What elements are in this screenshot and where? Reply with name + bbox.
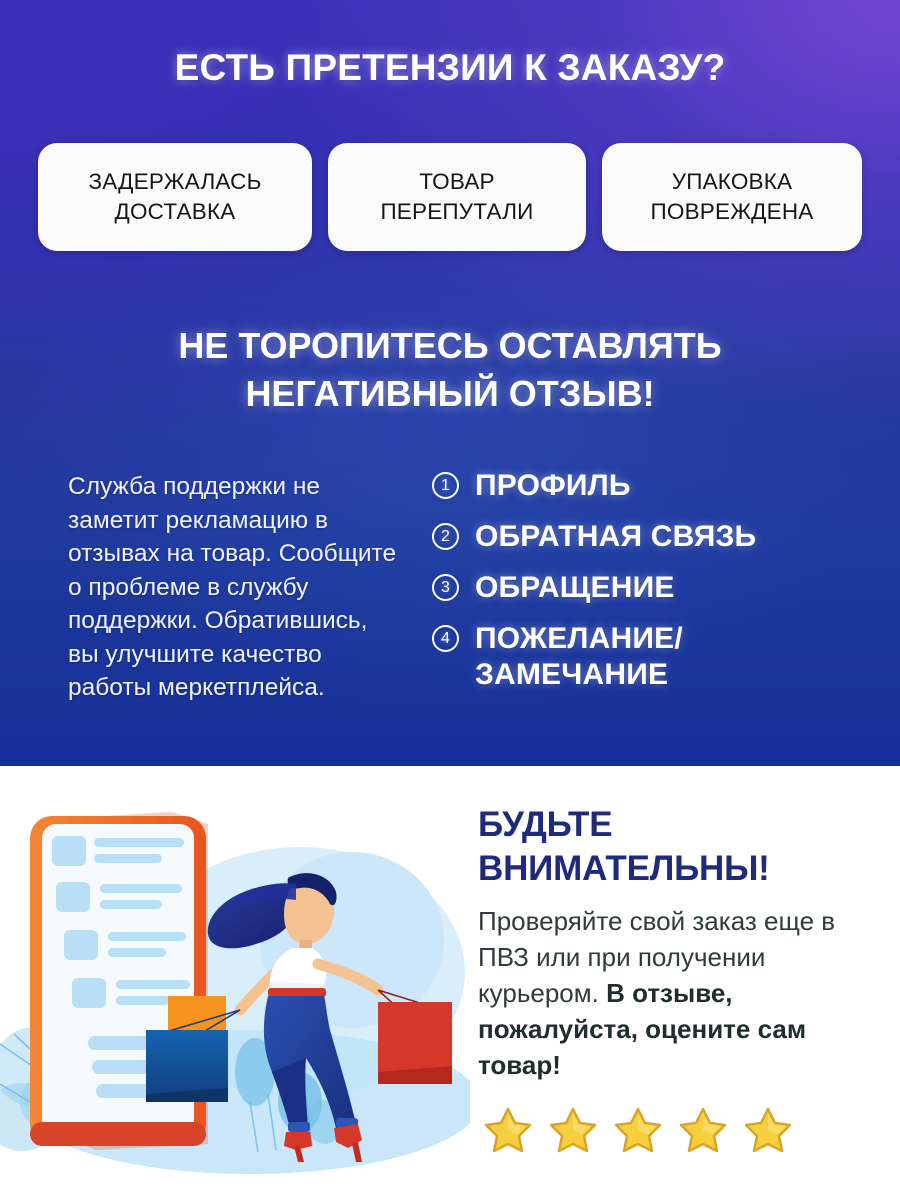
chip-label: УПАКОВКА ПОВРЕЖДЕНА: [651, 167, 814, 227]
bottom-heading: БУДЬТЕ ВНИМАТЕЛЬНЫ!: [478, 803, 878, 891]
step-label: ПОЖЕЛАНИЕ/ ЗАМЕЧАНИЕ: [475, 621, 683, 693]
star-icon[interactable]: [677, 1104, 729, 1156]
step-number-badge: 3: [432, 574, 459, 601]
rating-stars[interactable]: [482, 1104, 822, 1156]
woman-shopping-phone-illustration: [0, 772, 470, 1200]
star-icon[interactable]: [742, 1104, 794, 1156]
step-label: ПРОФИЛЬ: [475, 468, 631, 504]
list-item: 3 ОБРАЩЕНИЕ: [432, 570, 872, 606]
step-number-badge: 1: [432, 472, 459, 499]
list-item: 2 ОБРАТНАЯ СВЯЗЬ: [432, 519, 872, 555]
step-number-badge: 2: [432, 523, 459, 550]
chip-delivery-delayed[interactable]: ЗАДЕРЖАЛАСЬ ДОСТАВКА: [38, 143, 312, 251]
promo-banner: ЕСТЬ ПРЕТЕНЗИИ К ЗАКАЗУ? ЗАДЕРЖАЛАСЬ ДОС…: [0, 0, 900, 1200]
complaint-chip-group: ЗАДЕРЖАЛАСЬ ДОСТАВКА ТОВАР ПЕРЕПУТАЛИ УП…: [38, 143, 862, 251]
chip-damaged-package[interactable]: УПАКОВКА ПОВРЕЖДЕНА: [602, 143, 862, 251]
star-icon[interactable]: [482, 1104, 534, 1156]
step-number-badge: 4: [432, 625, 459, 652]
chip-label: ЗАДЕРЖАЛАСЬ ДОСТАВКА: [88, 167, 261, 227]
page-title: ЕСТЬ ПРЕТЕНЗИИ К ЗАКАЗУ?: [0, 47, 900, 89]
chip-wrong-item[interactable]: ТОВАР ПЕРЕПУТАЛИ: [328, 143, 586, 251]
star-icon[interactable]: [547, 1104, 599, 1156]
list-item: 4 ПОЖЕЛАНИЕ/ ЗАМЕЧАНИЕ: [432, 621, 872, 693]
step-label: ОБРАТНАЯ СВЯЗЬ: [475, 519, 756, 555]
support-note-text: Служба поддержки не заметит рекламацию в…: [68, 470, 398, 705]
bottom-body: Проверяйте свой заказ еще в ПВЗ или при …: [478, 903, 878, 1083]
steps-list: 1 ПРОФИЛЬ 2 ОБРАТНАЯ СВЯЗЬ 3 ОБРАЩЕНИЕ 4…: [432, 468, 872, 708]
step-label: ОБРАЩЕНИЕ: [475, 570, 675, 606]
list-item: 1 ПРОФИЛЬ: [432, 468, 872, 504]
hero-headline: НЕ ТОРОПИТЕСЬ ОСТАВЛЯТЬ НЕГАТИВНЫЙ ОТЗЫВ…: [0, 322, 900, 418]
chip-label: ТОВАР ПЕРЕПУТАЛИ: [380, 167, 533, 227]
star-icon[interactable]: [612, 1104, 664, 1156]
shopping-bag-red: [378, 990, 452, 1084]
